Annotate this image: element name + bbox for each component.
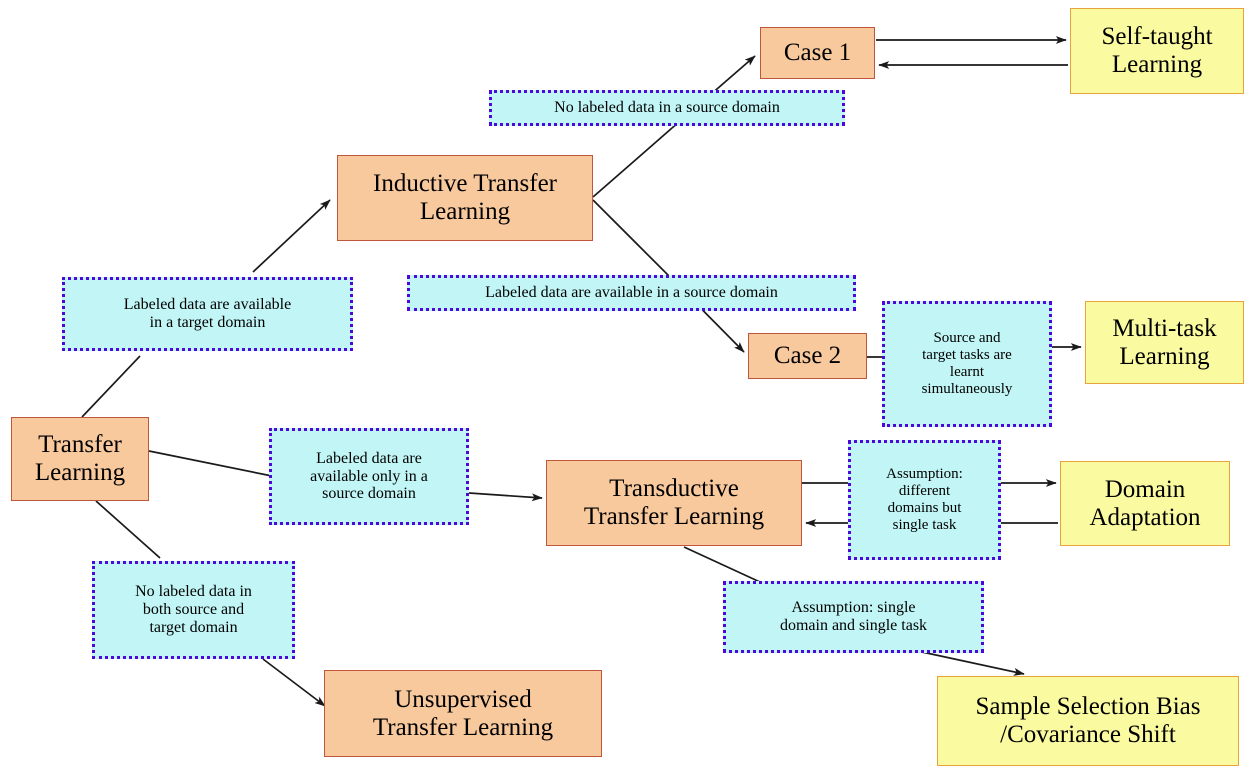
edge-transfer-to-no-labeled-both: [96, 501, 160, 558]
condition-labeled-source-domain: Labeled data are available in a source d…: [407, 275, 856, 311]
condition-source-target-simultaneous: Source and target tasks are learnt simul…: [882, 301, 1052, 427]
condition-different-domains-single-task: Assumption: different domains but single…: [848, 440, 1001, 560]
edge-labeled-target-to-inductive: [253, 200, 330, 272]
node-domain-adaptation[interactable]: Domain Adaptation: [1060, 461, 1230, 546]
condition-single-domain-single-task: Assumption: single domain and single tas…: [723, 581, 984, 653]
node-self-taught-learning[interactable]: Self-taught Learning: [1070, 8, 1244, 94]
node-inductive-transfer-learning[interactable]: Inductive Transfer Learning: [337, 155, 593, 241]
edge-transductive-to-single-domain: [684, 547, 760, 582]
edge-inductive-to-no-labeled-source: [593, 128, 672, 197]
node-case-2[interactable]: Case 2: [748, 333, 867, 379]
condition-no-labeled-source-domain: No labeled data in a source domain: [489, 90, 845, 126]
transfer-learning-taxonomy-diagram: Transfer Learning Inductive Transfer Lea…: [0, 0, 1255, 775]
condition-labeled-only-source-domain: Labeled data are available only in a sou…: [269, 428, 469, 525]
node-unsupervised-transfer-learning[interactable]: Unsupervised Transfer Learning: [324, 670, 602, 757]
edge-labeled-only-source-to-transductive: [469, 493, 542, 498]
condition-no-labeled-both-domains: No labeled data in both source and targe…: [92, 561, 295, 659]
edge-no-labeled-both-to-unsupervised: [263, 659, 325, 706]
node-case-1[interactable]: Case 1: [760, 27, 875, 79]
condition-labeled-target-domain: Labeled data are available in a target d…: [62, 277, 353, 351]
node-transfer-learning[interactable]: Transfer Learning: [11, 417, 149, 501]
node-transductive-transfer-learning[interactable]: Transductive Transfer Learning: [546, 460, 802, 546]
edge-inductive-to-labeled-source: [593, 200, 665, 272]
edge-transfer-to-labeled-only-source: [149, 451, 272, 476]
edge-transfer-to-labeled-target: [82, 356, 140, 417]
node-sample-selection-bias[interactable]: Sample Selection Bias /Covariance Shift: [937, 676, 1239, 766]
edge-single-domain-to-sample-selection-bias: [922, 652, 1024, 674]
node-multi-task-learning[interactable]: Multi-task Learning: [1085, 301, 1244, 384]
